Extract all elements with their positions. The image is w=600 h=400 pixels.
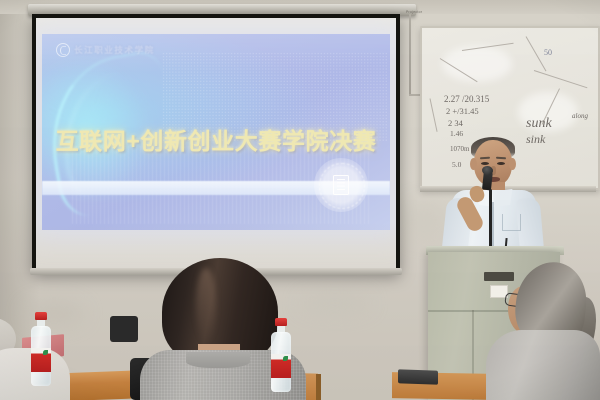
whiteboard-smudge: [442, 46, 512, 82]
document-seal-icon: [314, 158, 368, 212]
seal-document-glyph: [333, 175, 349, 195]
whiteboard-note: 1.46: [450, 129, 463, 138]
whiteboard-note: along: [572, 112, 588, 120]
presenter-collar: [495, 189, 513, 207]
presenter-shirt-pocket: [502, 214, 521, 231]
wall-blemish: [300, 292, 370, 314]
presenter-ear: [509, 158, 516, 170]
whiteboard-sketch-line: [534, 70, 588, 88]
whiteboard-note: 2.27 /20.315: [444, 94, 489, 104]
classroom-presentation-photo: Projector 长江职业技术学院 互联网+创新创业大赛学院决赛: [0, 0, 600, 400]
whiteboard-note: 50: [544, 48, 552, 57]
presenter-eye: [497, 162, 505, 165]
laptop: [398, 369, 438, 384]
crescent-emblem-icon: [56, 43, 70, 57]
bottle-label: [271, 354, 291, 378]
chair-back: [110, 316, 138, 342]
water-bottle: [270, 318, 292, 392]
slide-institution-logo: 长江职业技术学院: [56, 43, 155, 57]
podium-nameplate: [484, 272, 514, 281]
whiteboard-note: sunk: [526, 116, 552, 132]
screen-cable: [409, 14, 411, 96]
center-attendee-hair-sheen: [196, 268, 216, 344]
screen-surface: 长江职业技术学院 互联网+创新创业大赛学院决赛: [36, 18, 396, 268]
leaf-icon: [283, 356, 288, 361]
whiteboard-note: 2 +/31.45: [446, 106, 479, 116]
projected-slide: 长江职业技术学院 互联网+创新创业大赛学院决赛: [42, 34, 390, 230]
bottle-label: [31, 348, 51, 372]
bottle-cap: [275, 318, 287, 326]
presenter-eye: [481, 162, 489, 165]
right-attendee-body: [486, 330, 600, 400]
whiteboard-sketch-line: [430, 98, 438, 131]
institution-name: 长江职业技术学院: [74, 44, 155, 56]
whiteboard-note: 2 34: [448, 118, 463, 128]
projector-screen[interactable]: 长江职业技术学院 互联网+创新创业大赛学院决赛: [32, 14, 400, 272]
bottle-cap: [35, 312, 47, 320]
wall-blemish: [404, 200, 444, 240]
presenter-ear: [470, 158, 477, 170]
center-attendee-collar: [186, 352, 250, 368]
leaf-icon: [43, 350, 48, 355]
presenter: [440, 140, 560, 260]
desk-seam: [316, 374, 321, 400]
microphone-cable: [489, 189, 492, 251]
water-bottle: [30, 312, 52, 386]
slide-title: 互联网+创新创业大赛学院决赛: [42, 122, 390, 156]
